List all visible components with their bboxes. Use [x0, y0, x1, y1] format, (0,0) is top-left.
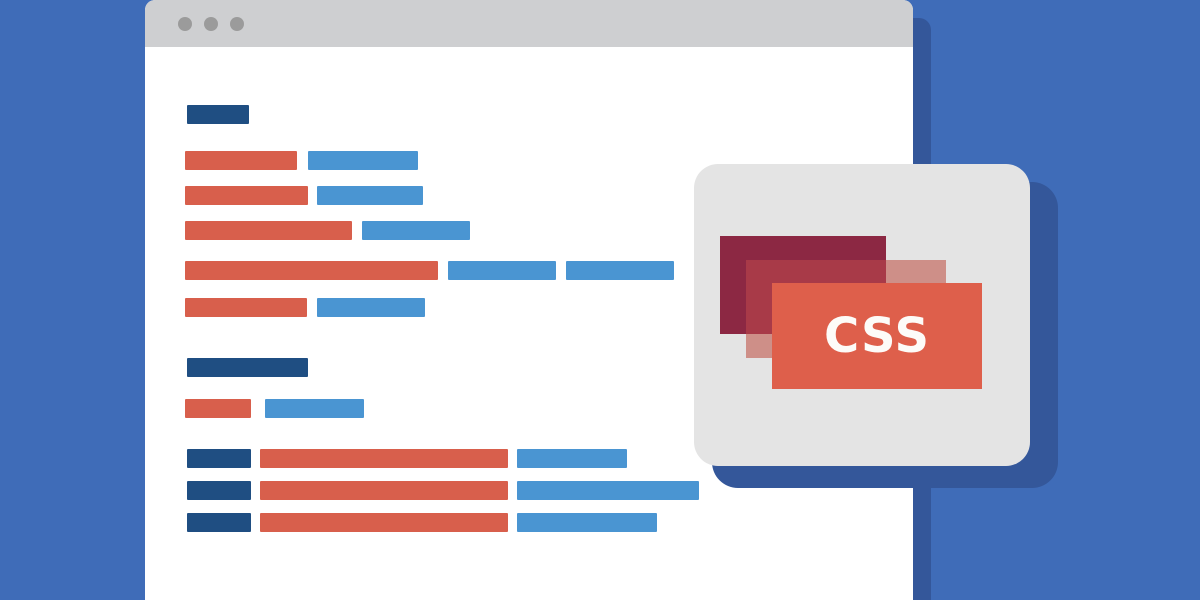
css-badge-card: CSS: [694, 164, 1030, 466]
code-token-navy: [187, 105, 249, 124]
code-token-blue: [566, 261, 674, 280]
code-token-red: [185, 221, 352, 240]
code-token-blue: [517, 481, 699, 500]
code-token-blue: [265, 399, 364, 418]
minimize-dot-icon[interactable]: [204, 17, 218, 31]
code-token-navy: [187, 358, 308, 377]
code-token-blue: [362, 221, 470, 240]
css-layer-stack: CSS: [720, 236, 1006, 402]
code-token-red: [185, 186, 308, 205]
browser-titlebar: [145, 0, 913, 47]
code-token-blue: [517, 513, 657, 532]
code-token-red: [260, 449, 508, 468]
code-token-navy: [187, 449, 251, 468]
code-token-red: [260, 481, 508, 500]
code-token-red: [185, 261, 438, 280]
code-token-red: [260, 513, 508, 532]
code-token-navy: [187, 481, 251, 500]
code-token-blue: [317, 186, 423, 205]
code-token-navy: [187, 513, 251, 532]
window-controls: [178, 17, 244, 31]
code-token-blue: [517, 449, 627, 468]
code-token-blue: [448, 261, 556, 280]
maximize-dot-icon[interactable]: [230, 17, 244, 31]
code-token-red: [185, 399, 251, 418]
code-token-blue: [308, 151, 418, 170]
code-token-blue: [317, 298, 425, 317]
code-token-red: [185, 298, 307, 317]
close-dot-icon[interactable]: [178, 17, 192, 31]
css-label: CSS: [772, 283, 982, 389]
screenshot-root: CSS: [0, 0, 1200, 600]
code-token-red: [185, 151, 297, 170]
